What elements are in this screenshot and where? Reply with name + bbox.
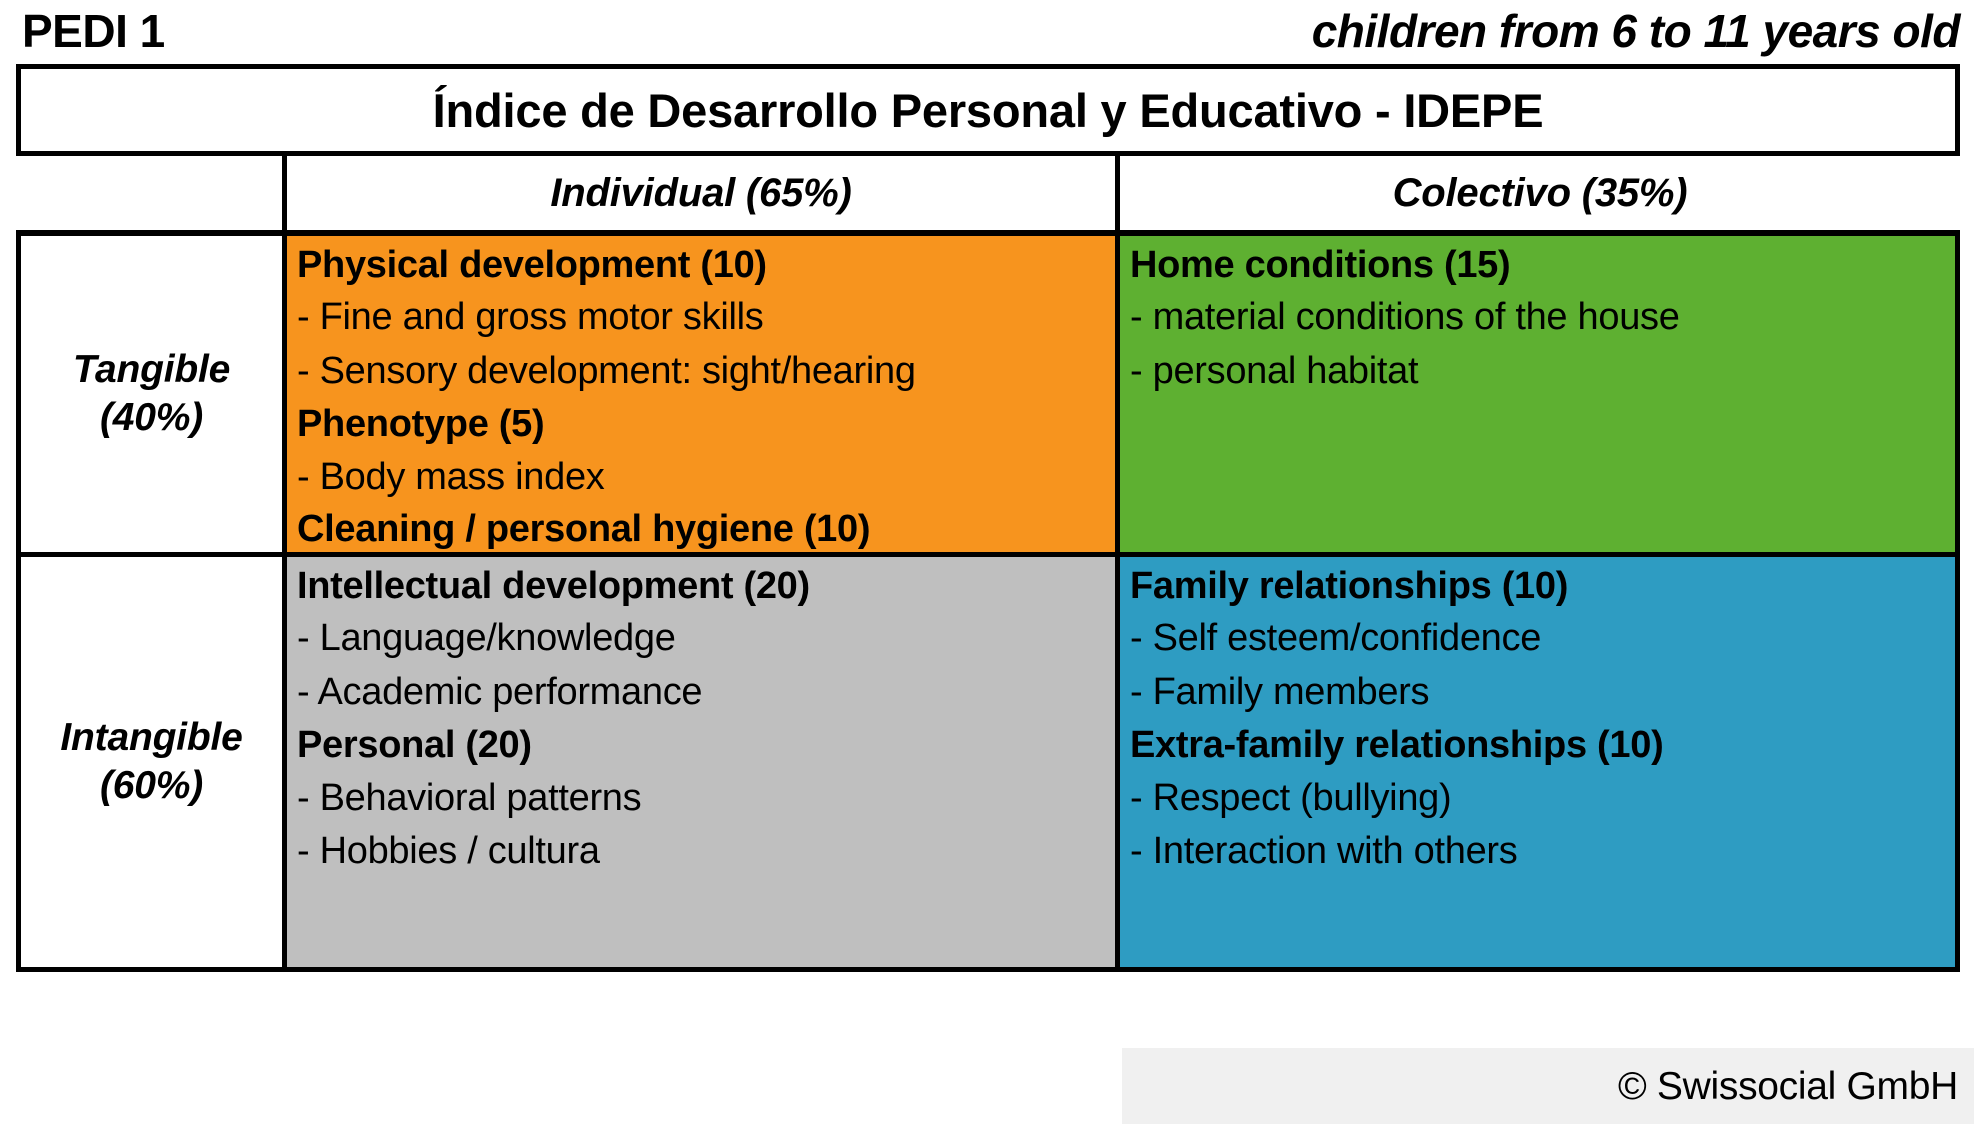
cell-entry-item: - Family members <box>1130 666 1955 720</box>
cell-entry-item: - Hobbies / cultura <box>297 825 1115 879</box>
cell-entry-heading: Physical development (10) <box>297 240 1115 291</box>
idepe-matrix: Índice de Desarrollo Personal y Educativ… <box>16 64 1960 972</box>
cell-entry-item: - Behavioral patterns <box>297 772 1115 826</box>
cell-entry-item: - material conditions of the house <box>1130 291 1955 345</box>
cell-tangible-colectivo: Home conditions (15) - material conditio… <box>1120 236 1955 552</box>
cell-entry-item: - Fine and gross motor skills <box>297 291 1115 345</box>
cell-intangible-individual: Intellectual development (20) - Language… <box>287 557 1120 967</box>
matrix-title: Índice de Desarrollo Personal y Educativ… <box>433 87 1544 134</box>
row-label-tangible-name: Tangible <box>73 346 230 394</box>
copyright-label: © Swissocial GmbH <box>1618 1067 1958 1106</box>
cell-entry-heading: Extra-family relationships (10) <box>1130 720 1955 771</box>
matrix-column-header-row: Individual (65%) Colectivo (35%) <box>16 156 1960 230</box>
matrix-row-tangible: Tangible (40%) Physical development (10)… <box>21 236 1955 557</box>
cell-intangible-colectivo: Family relationships (10) - Self esteem/… <box>1120 557 1955 967</box>
cell-entry-heading: Phenotype (5) <box>297 399 1115 450</box>
cell-entry-item: - Academic performance <box>297 666 1115 720</box>
cell-entry-heading: Family relationships (10) <box>1130 561 1955 612</box>
row-label-intangible-weight: (60%) <box>100 762 203 810</box>
pedi-label: PEDI 1 <box>22 8 165 54</box>
row-label-intangible-name: Intangible <box>60 714 242 762</box>
cell-entry-item: - Interaction with others <box>1130 825 1955 879</box>
column-header-individual: Individual (65%) <box>287 156 1120 230</box>
cell-entry-item: - Respect (bullying) <box>1130 772 1955 826</box>
cell-entry-item: - Self esteem/confidence <box>1130 612 1955 666</box>
cell-entry-item: - Body mass index <box>297 451 1115 505</box>
matrix-corner-cell <box>16 156 287 230</box>
footer-bar: © Swissocial GmbH <box>1122 1048 1974 1124</box>
row-label-tangible-weight: (40%) <box>100 394 203 442</box>
column-header-colectivo: Colectivo (35%) <box>1120 156 1960 230</box>
matrix-title-bar: Índice de Desarrollo Personal y Educativ… <box>16 64 1960 156</box>
cell-entry-heading: Cleaning / personal hygiene (10) <box>297 504 1115 552</box>
cell-entry-heading: Intellectual development (20) <box>297 561 1115 612</box>
row-label-tangible: Tangible (40%) <box>21 236 287 552</box>
cell-entry-item: - Sensory development: sight/hearing <box>297 345 1115 399</box>
cell-entry-item: - personal habitat <box>1130 345 1955 399</box>
cell-tangible-individual: Physical development (10) - Fine and gro… <box>287 236 1120 552</box>
row-label-intangible: Intangible (60%) <box>21 557 287 967</box>
cell-entry-heading: Home conditions (15) <box>1130 240 1955 291</box>
matrix-row-intangible: Intangible (60%) Intellectual developmen… <box>21 557 1955 967</box>
page-header: PEDI 1 children from 6 to 11 years old <box>0 0 1974 62</box>
age-range-label: children from 6 to 11 years old <box>1312 8 1960 54</box>
cell-entry-item: - Language/knowledge <box>297 612 1115 666</box>
matrix-body: Tangible (40%) Physical development (10)… <box>16 230 1960 972</box>
cell-entry-heading: Personal (20) <box>297 720 1115 771</box>
